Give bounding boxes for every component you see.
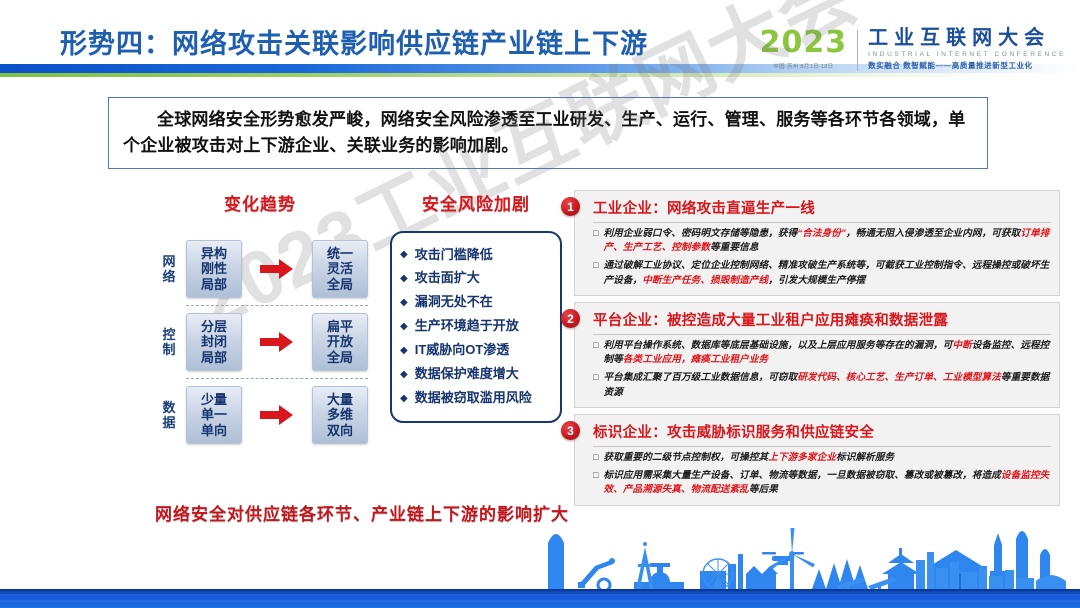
square-bullet-icon: □ bbox=[593, 339, 598, 368]
skyline-band bbox=[0, 516, 1080, 608]
risk-item-label: 生产环境趋于开放 bbox=[415, 319, 519, 334]
risk-list-item: ◆攻击门槛降低 bbox=[400, 243, 554, 267]
panel-title: 工业企业：网络攻击直逼生产一线 bbox=[593, 197, 1051, 223]
trend-row-label: 控制 bbox=[152, 327, 186, 358]
trend-row: 网络异构刚性局部统一灵活全局 bbox=[152, 233, 368, 305]
slide-root: 形势四：网络攻击关联影响供应链产业链上下游 2023 中国·苏州 8月1日-18… bbox=[0, 0, 1080, 608]
trend-from-box: 异构刚性局部 bbox=[186, 240, 242, 299]
risk-section: 安全风险加剧 ◆攻击门槛降低◆攻击面扩大◆漏洞无处不在◆生产环境趋于开放◆IT威… bbox=[390, 190, 562, 423]
logo-year-block: 2023 中国·苏州 8月1日-18日 bbox=[760, 28, 848, 70]
trend-row: 控制分层封闭局部扁平开放全局 bbox=[152, 306, 368, 378]
trend-arrow bbox=[242, 404, 312, 426]
trend-section: 变化趋势 网络异构刚性局部统一灵活全局控制分层封闭局部扁平开放全局数据少量单一单… bbox=[152, 190, 368, 451]
diamond-bullet-icon: ◆ bbox=[400, 249, 408, 261]
panel-bullet-text: 利用平台操作系统、数据库等底层基础设施，以及上层应用服务等存在的漏洞，可中断设备… bbox=[603, 339, 1051, 368]
panel-bullet: □利用企业弱口令、密码明文存储等隐患，获得“合法身份”，畅通无阻入侵渗透至企业内… bbox=[593, 227, 1051, 256]
panel-bullet-text: 获取重要的二级节点控制权，可操控其上下游多家企业标识解析服务 bbox=[603, 451, 894, 465]
trend-to-box: 统一灵活全局 bbox=[312, 240, 368, 299]
logo-year: 2023 bbox=[760, 28, 848, 58]
panel-title: 标识企业：攻击威胁标识服务和供应链安全 bbox=[593, 421, 1051, 447]
risk-list-item: ◆数据保护难度增大 bbox=[400, 363, 554, 387]
logo-slogan: 数实融合 数智赋能——高质量推进新型工业化 bbox=[868, 60, 1066, 71]
header-green-bar bbox=[0, 73, 1080, 77]
diamond-bullet-icon: ◆ bbox=[400, 273, 408, 285]
risk-item-label: 数据保护难度增大 bbox=[415, 367, 519, 382]
panel-bullet: □标识应用需采集大量生产设备、订单、物流等数据，一旦数据被窃取、篡改或被篡改，将… bbox=[593, 469, 1051, 498]
trend-row: 数据少量单一单向大量多维双向 bbox=[152, 379, 368, 451]
trend-row-label: 数据 bbox=[152, 400, 186, 431]
page-title: 形势四：网络攻击关联影响供应链产业链上下游 bbox=[60, 22, 648, 61]
threat-panel: 1工业企业：网络攻击直逼生产一线□利用企业弱口令、密码明文存储等隐患，获得“合法… bbox=[574, 190, 1060, 296]
risk-item-label: 攻击面扩大 bbox=[415, 271, 480, 286]
statement-text: 全球网络安全形势愈发严峻，网络安全风险渗透至工业研发、生产、运行、管理、服务等各… bbox=[123, 107, 973, 158]
panel-bullet: □获取重要的二级节点控制权，可操控其上下游多家企业标识解析服务 bbox=[593, 451, 1051, 465]
trend-heading: 变化趋势 bbox=[152, 190, 368, 215]
trend-from-box: 少量单一单向 bbox=[186, 386, 242, 445]
panel-title: 平台企业：被控造成大量工业租户应用瘫痪和数据泄露 bbox=[593, 309, 1051, 335]
logo-name-block: 工业互联网大会 INDUSTRIAL INTERNET CONFERENCE 数… bbox=[868, 28, 1066, 71]
risk-list-item: ◆生产环境趋于开放 bbox=[400, 315, 554, 339]
threat-panel: 3标识企业：攻击威胁标识服务和供应链安全□获取重要的二级节点控制权，可操控其上下… bbox=[574, 414, 1060, 506]
trend-arrow bbox=[242, 331, 312, 353]
panel-bullet: □通过破解工业协议、定位企业控制网络、精准攻破生产系统等，可截获工业控制指令、远… bbox=[593, 259, 1051, 288]
square-bullet-icon: □ bbox=[593, 371, 598, 400]
diamond-bullet-icon: ◆ bbox=[400, 393, 408, 405]
logo-name-cn: 工业互联网大会 bbox=[868, 28, 1066, 49]
risk-item-label: 攻击门槛降低 bbox=[415, 248, 493, 263]
square-bullet-icon: □ bbox=[593, 469, 598, 498]
diamond-bullet-icon: ◆ bbox=[400, 297, 408, 309]
skyline-graphic bbox=[0, 516, 1080, 608]
risk-list-item: ◆攻击面扩大 bbox=[400, 267, 554, 291]
statement-box: 全球网络安全形势愈发严峻，网络安全风险渗透至工业研发、生产、运行、管理、服务等各… bbox=[108, 97, 988, 169]
conference-logo: 2023 中国·苏州 8月1日-18日 工业互联网大会 INDUSTRIAL I… bbox=[760, 28, 1066, 71]
panel-number-badge: 1 bbox=[561, 197, 580, 216]
risk-list-item: ◆漏洞无处不在 bbox=[400, 291, 554, 315]
risk-list: ◆攻击门槛降低◆攻击面扩大◆漏洞无处不在◆生产环境趋于开放◆IT威胁向OT渗透◆… bbox=[390, 231, 562, 423]
risk-item-label: 漏洞无处不在 bbox=[415, 295, 493, 310]
logo-divider bbox=[857, 30, 858, 71]
panel-bullet: □平台集成汇聚了百万级工业数据信息，可窃取研发代码、核心工艺、生产订单、工业模型… bbox=[593, 371, 1051, 400]
logo-place: 中国·苏州 8月1日-18日 bbox=[773, 62, 833, 70]
square-bullet-icon: □ bbox=[593, 259, 598, 288]
trend-to-box: 扁平开放全局 bbox=[312, 313, 368, 372]
panel-number-badge: 2 bbox=[561, 309, 580, 328]
threat-panel: 2平台企业：被控造成大量工业租户应用瘫痪和数据泄露□利用平台操作系统、数据库等底… bbox=[574, 302, 1060, 408]
diamond-bullet-icon: ◆ bbox=[400, 369, 408, 381]
trend-from-box: 分层封闭局部 bbox=[186, 313, 242, 372]
square-bullet-icon: □ bbox=[593, 451, 598, 465]
risk-list-item: ◆数据被窃取滥用风险 bbox=[400, 387, 554, 411]
panel-number-badge: 3 bbox=[561, 421, 580, 440]
panel-bullet-text: 利用企业弱口令、密码明文存储等隐患，获得“合法身份”，畅通无阻入侵渗透至企业内网… bbox=[603, 227, 1051, 256]
risk-item-label: IT威胁向OT渗透 bbox=[415, 343, 510, 358]
panel-bullet-text: 平台集成汇聚了百万级工业数据信息，可窃取研发代码、核心工艺、生产订单、工业模型算… bbox=[603, 371, 1051, 400]
threat-panels: 1工业企业：网络攻击直逼生产一线□利用企业弱口令、密码明文存储等隐患，获得“合法… bbox=[560, 190, 1060, 506]
trend-to-box: 大量多维双向 bbox=[312, 386, 368, 445]
diamond-bullet-icon: ◆ bbox=[400, 345, 408, 357]
panel-bullet: □利用平台操作系统、数据库等底层基础设施，以及上层应用服务等存在的漏洞，可中断设… bbox=[593, 339, 1051, 368]
panel-bullet-text: 标识应用需采集大量生产设备、订单、物流等数据，一旦数据被窃取、篡改或被篡改，将造… bbox=[603, 469, 1051, 498]
trend-arrow bbox=[242, 258, 312, 280]
risk-heading: 安全风险加剧 bbox=[390, 190, 562, 215]
trend-rows: 网络异构刚性局部统一灵活全局控制分层封闭局部扁平开放全局数据少量单一单向大量多维… bbox=[152, 233, 368, 451]
risk-list-item: ◆IT威胁向OT渗透 bbox=[400, 339, 554, 363]
logo-name-en: INDUSTRIAL INTERNET CONFERENCE bbox=[868, 51, 1066, 58]
square-bullet-icon: □ bbox=[593, 227, 598, 256]
trend-row-label: 网络 bbox=[152, 254, 186, 285]
risk-item-label: 数据被窃取滥用风险 bbox=[415, 391, 532, 406]
diamond-bullet-icon: ◆ bbox=[400, 321, 408, 333]
panel-bullet-text: 通过破解工业协议、定位企业控制网络、精准攻破生产系统等，可截获工业控制指令、远程… bbox=[603, 259, 1051, 288]
